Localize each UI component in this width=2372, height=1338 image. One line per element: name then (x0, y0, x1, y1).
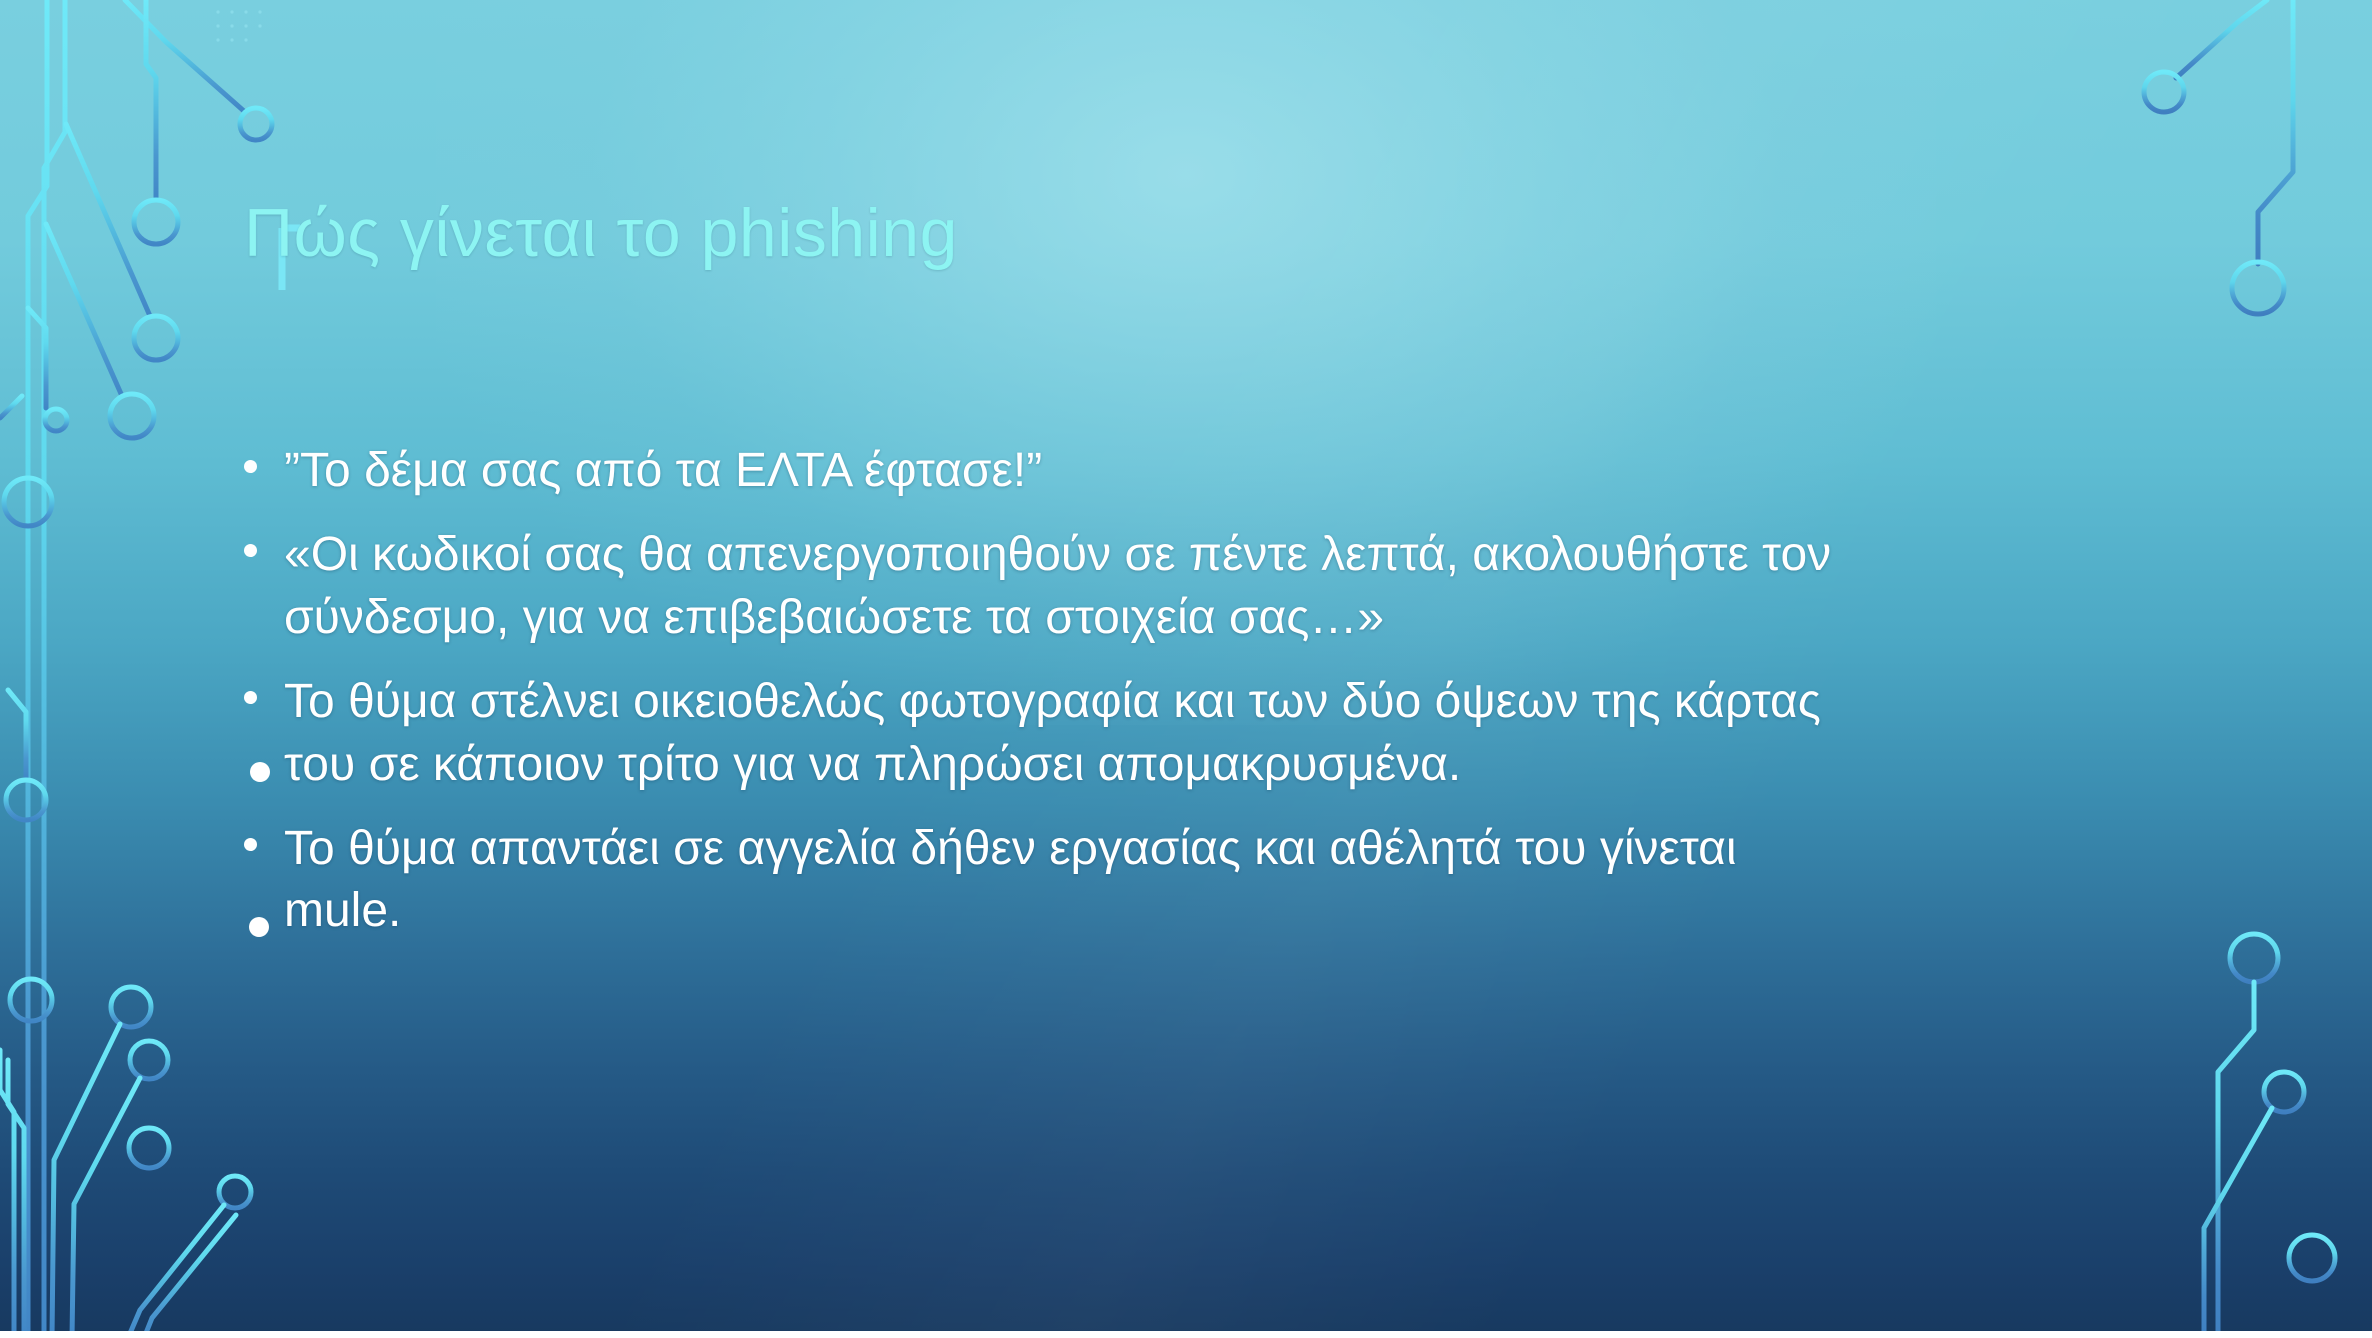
slide-bottom-strip (0, 1331, 2372, 1338)
bullet-line: mule. (284, 880, 2168, 942)
bullet-line: Το θύμα απαντάει σε αγγελία δήθεν εργασί… (284, 818, 2168, 880)
list-item: ”Το δέμα σας από τα ΕΛΤΑ έφτασε!” (238, 440, 2168, 502)
slide-content: Πώς γίνεται το phishing ”Το δέμα σας από… (0, 0, 2372, 1338)
page-title: Πώς γίνεται το phishing (244, 196, 1944, 271)
presentation-slide: Πώς γίνεται το phishing ”Το δέμα σας από… (0, 0, 2372, 1338)
bullet-line: του σε κάποιον τρίτο για να πληρώσει απο… (284, 734, 2168, 796)
bullet-line: ”Το δέμα σας από τα ΕΛΤΑ έφτασε!” (284, 440, 2168, 502)
bullet-dot-icon (244, 838, 257, 851)
bullet-list: ”Το δέμα σας από τα ΕΛΤΑ έφτασε!” «Οι κω… (238, 440, 2168, 943)
bullet-dot-icon (244, 691, 257, 704)
list-item: Το θύμα απαντάει σε αγγελία δήθεν εργασί… (238, 818, 2168, 943)
bullet-line: «Οι κωδικοί σας θα απενεργοποιηθούν σε π… (284, 524, 2168, 586)
bullet-line: Το θύμα στέλνει οικειοθελώς φωτογραφία κ… (284, 671, 2168, 733)
list-item: Το θύμα στέλνει οικειοθελώς φωτογραφία κ… (238, 671, 2168, 796)
list-item: «Οι κωδικοί σας θα απενεργοποιηθούν σε π… (238, 524, 2168, 649)
bullet-line: σύνδεσμο, για να επιβεβαιώσετε τα στοιχε… (284, 587, 2168, 649)
bullet-dot-icon (244, 544, 257, 557)
bullet-dot-icon (244, 460, 257, 473)
